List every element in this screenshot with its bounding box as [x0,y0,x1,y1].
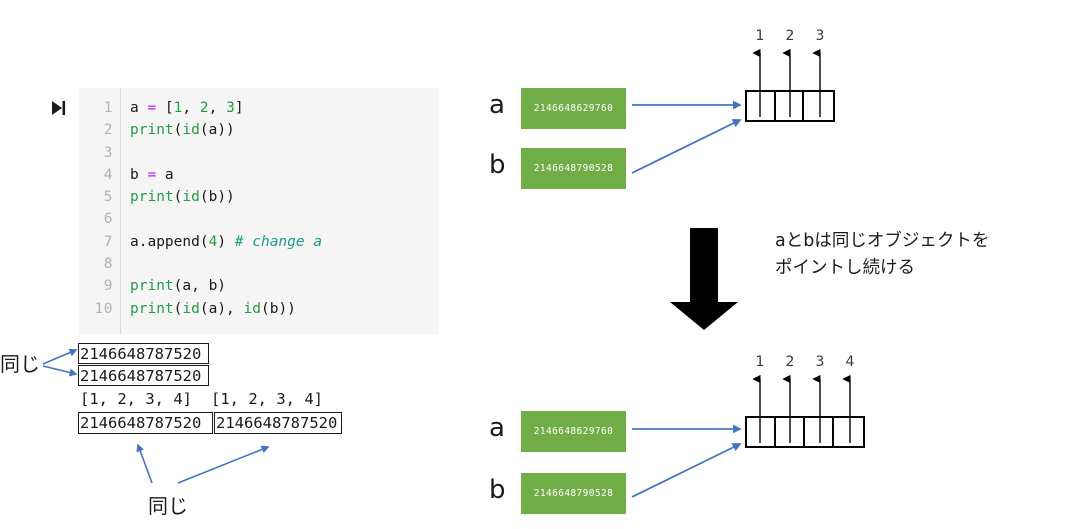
annotation-same-bottom: 同じ [148,490,188,519]
run-to-end-icon[interactable] [48,98,68,118]
code-line-number-gutter: 12345678910 [79,88,121,334]
code-line-number: 1 [79,97,113,119]
code-line [130,142,439,164]
before-var-b-label: b [489,152,506,178]
after-var-b-box: 2146648790528 [521,473,626,514]
code-token: = [147,167,156,183]
output-text-id-b-after: 2146648787520 [216,415,337,431]
code-cell[interactable]: 12345678910 a = [1, 2, 3]print(id(a))b =… [79,88,439,334]
code-line-number: 3 [79,142,113,164]
code-line-number: 10 [79,298,113,320]
code-line: a.append(4) # change a [130,231,439,253]
before-var-a-value: 2146648629760 [534,103,614,114]
code-token: = [147,100,156,116]
after-index-label-4: 4 [842,354,858,370]
before-var-a-label: a [489,92,505,118]
after-var-a-value: 2146648629760 [534,426,614,437]
output-text-list-b: [1, 2, 3, 4] [211,391,323,407]
before-value-arrows [745,45,835,123]
code-line: a = [1, 2, 3] [130,97,439,119]
after-index-label-3: 3 [812,354,828,370]
output-text-list-a: [1, 2, 3, 4] [80,391,192,407]
code-token: a [130,100,147,116]
code-token: (a)) [200,122,235,138]
code-token: id [182,301,199,317]
code-token: b [130,167,147,183]
code-token: (b)) [200,189,235,205]
before-index-label-1: 1 [752,28,768,44]
code-token: print [130,278,174,294]
after-var-a-label: a [489,415,505,441]
code-token: ) [217,234,234,250]
output-text-id-b: 2146648787520 [80,368,201,384]
before-pointer-arrows [632,88,750,188]
after-pointer-arrows [632,411,750,511]
code-line: print(a, b) [130,275,439,297]
code-token: (b)) [261,301,296,317]
code-line-number: 4 [79,164,113,186]
code-token: print [130,301,174,317]
after-var-b-label: b [489,477,506,503]
code-token: 4 [209,234,218,250]
after-index-label-1: 1 [752,354,768,370]
code-line-number: 2 [79,119,113,141]
after-value-arrows [745,371,865,449]
code-line-number: 6 [79,208,113,230]
code-line: print(id(a), id(b)) [130,298,439,320]
before-var-a-box: 2146648629760 [521,88,626,129]
code-line-number: 9 [79,275,113,297]
code-line [130,253,439,275]
code-editor-body[interactable]: a = [1, 2, 3]print(id(a))b = aprint(id(b… [121,88,439,334]
code-token: print [130,189,174,205]
code-token: id [182,189,199,205]
same-top-arrows [40,340,95,390]
code-line [130,208,439,230]
before-index-label-2: 2 [782,28,798,44]
code-token: (a, b) [174,278,226,294]
code-token: # change a [235,234,322,250]
output-text-id-a-after: 2146648787520 [80,415,201,431]
code-line: print(id(a)) [130,119,439,141]
code-token: a [156,167,173,183]
down-arrow-icon [668,228,740,330]
code-token: print [130,122,174,138]
code-token: ] [235,100,244,116]
code-token: id [182,122,199,138]
code-token: 3 [226,100,235,116]
code-line: b = a [130,164,439,186]
code-token: , [182,100,199,116]
code-token: id [244,301,261,317]
code-line: print(id(b)) [130,186,439,208]
code-token: a.append( [130,234,209,250]
code-token: , [209,100,226,116]
annotation-note: aとbは同じオブジェクトを ポイントし続ける [775,228,1065,282]
after-index-label-2: 2 [782,354,798,370]
output-text-id-a: 2146648787520 [80,346,201,362]
before-var-b-value: 2146648790528 [534,163,614,174]
after-var-a-box: 2146648629760 [521,411,626,452]
same-bottom-arrows [130,438,280,488]
code-token: (a), [200,301,244,317]
annotation-same-top: 同じ [0,348,40,377]
before-index-label-3: 3 [812,28,828,44]
code-line-number: 8 [79,253,113,275]
code-line-number: 5 [79,186,113,208]
code-token: 2 [200,100,209,116]
code-line-number: 7 [79,231,113,253]
before-var-b-box: 2146648790528 [521,148,626,189]
after-var-b-value: 2146648790528 [534,488,614,499]
code-token: [ [156,100,173,116]
